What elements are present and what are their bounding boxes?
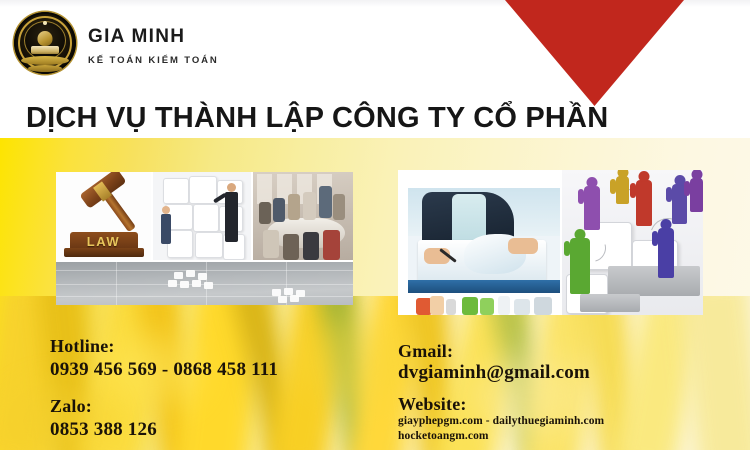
contract-signing-photo (408, 188, 560, 293)
gavel-law-photo: LAW (56, 172, 151, 260)
page-title: DỊCH VỤ THÀNH LẬP CÔNG TY CỔ PHẦN (26, 104, 608, 133)
website-line-1[interactable]: giayphepgm.com - dailythuegiaminh.com (398, 415, 604, 427)
puzzle-wall-photo (153, 172, 251, 260)
hotline-value[interactable]: 0939 456 569 - 0868 458 111 (50, 359, 278, 381)
gmail-label: Gmail: (398, 341, 453, 362)
cartoon-team-photo (408, 296, 560, 315)
right-photo-collage (398, 170, 703, 315)
hotline-label: Hotline: (50, 336, 115, 357)
zalo-value[interactable]: 0853 388 126 (50, 419, 157, 441)
gmail-value[interactable]: dvgiaminh@gmail.com (398, 362, 590, 384)
gia-minh-seal-icon (14, 12, 76, 74)
brand-name: GIA MINH (88, 27, 185, 46)
left-photo-collage: LAW (56, 172, 353, 305)
law-caption: LAW (56, 234, 151, 249)
website-label: Website: (398, 394, 467, 415)
meeting-room-photo (253, 172, 353, 260)
poster-canvas: GIA MINH KẾ TOÁN KIỂM TOÁN DỊCH VỤ THÀNH… (0, 0, 750, 450)
red-triangle-decoration (505, 0, 684, 106)
office-floor-photo (56, 262, 353, 305)
puzzle-figurines-photo (562, 170, 703, 315)
zalo-label: Zalo: (50, 396, 92, 417)
brand-tagline: KẾ TOÁN KIỂM TOÁN (88, 56, 219, 66)
website-line-2[interactable]: hocketoangm.com (398, 430, 489, 442)
